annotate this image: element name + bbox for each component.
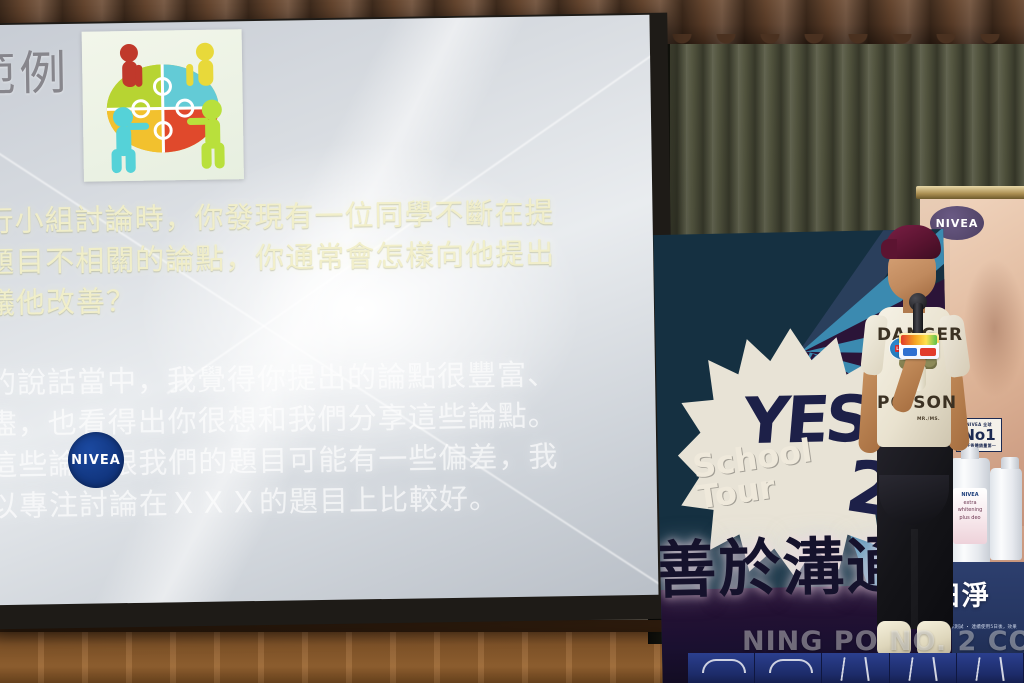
- slide-title: 範例: [0, 50, 71, 99]
- gift-bag-row: [688, 653, 1024, 683]
- mic-flag-stripe: [901, 335, 937, 345]
- rollup-banner-top-rail: [916, 186, 1024, 199]
- bag-handle: [975, 657, 980, 681]
- bag-handle: [999, 657, 1004, 681]
- nivea-brand-circle-text: NIVEA: [71, 453, 121, 468]
- gift-bag: [822, 653, 889, 683]
- photo-scene: 範例: [0, 0, 1024, 683]
- bag-handle: [932, 657, 937, 681]
- teamwork-puzzle-illustration: [82, 29, 244, 181]
- gift-bag: [688, 653, 755, 683]
- mic-flag-stripe: [920, 348, 936, 356]
- gift-bag: [890, 653, 957, 683]
- stage-wooden-floor: [0, 628, 700, 683]
- presenter-pants: [877, 439, 953, 629]
- nivea-product-bottle: [990, 468, 1022, 560]
- bottle-cap: [1001, 457, 1019, 469]
- presenter-hair-burgundy: [885, 225, 941, 259]
- question-line: 建議他改善？: [0, 273, 656, 325]
- venue-watermark: NING PO NO. 2 COLLEGE: [742, 626, 1024, 657]
- presenter-person: DANGER POISON MR./MS. Lives: [855, 225, 985, 683]
- projection-screen: 範例: [0, 15, 659, 605]
- nivea-brand-circle: NIVEA: [68, 432, 124, 488]
- bag-handle: [865, 657, 870, 681]
- bag-handle: [908, 657, 913, 681]
- gift-bag: [755, 653, 822, 683]
- mic-flag-stripe: [903, 348, 917, 356]
- tshirt-small-print: MR./MS.: [917, 417, 940, 422]
- bag-handle: [841, 657, 846, 681]
- presentation-slide: 範例: [0, 15, 659, 605]
- microphone-flag: [899, 333, 939, 359]
- slide-question-paragraph: 進行小組討論時，你發現有一位同學不斷在提 與題目不相關的論點，你通常會怎樣向他提…: [0, 191, 656, 325]
- bag-handle: [769, 659, 813, 673]
- bag-handle: [702, 659, 746, 673]
- gift-bag: [957, 653, 1024, 683]
